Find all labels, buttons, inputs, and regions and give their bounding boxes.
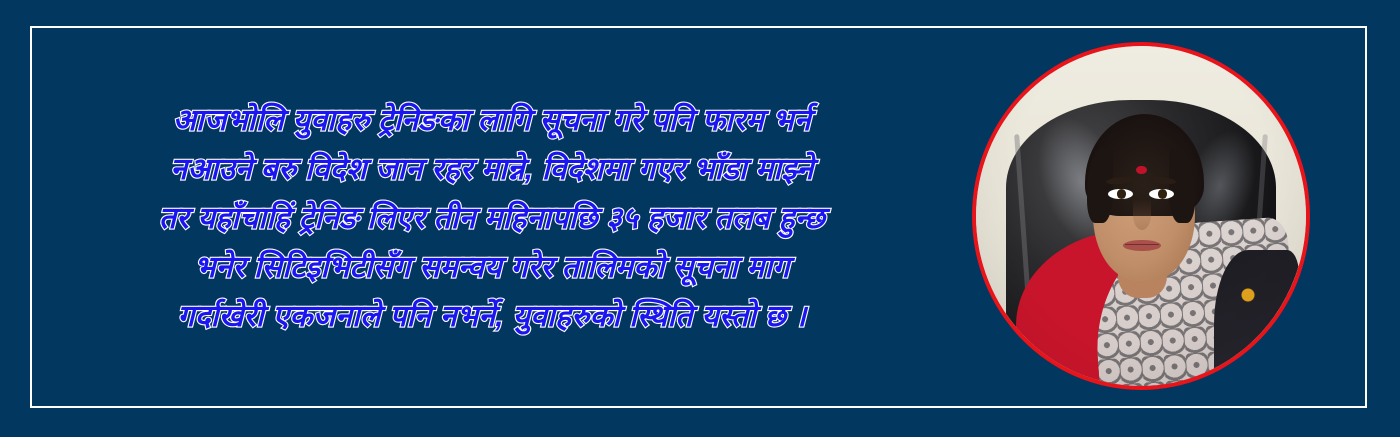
portrait-photo — [976, 46, 1306, 386]
bindi — [1136, 166, 1147, 174]
portrait-circle — [972, 42, 1310, 390]
quote-line-4: भनेर सिटिइभिटीसँग समन्वय गरेर तालिमको सू… — [42, 243, 942, 292]
quote-card: आजभोलि युवाहरु ट्रेनिङका लागि सूचना गरे … — [0, 0, 1400, 437]
pupil-left — [1117, 189, 1126, 198]
quote-line-1: आजभोलि युवाहरु ट्रेनिङका लागि सूचना गरे … — [42, 96, 942, 145]
sari-floral-border — [1214, 250, 1300, 386]
nose — [1133, 199, 1151, 230]
quote-line-5: गर्दाखेरी एकजनाले पनि नभर्ने, युवाहरुको … — [42, 292, 942, 341]
quote-text-block: आजभोलि युवाहरु ट्रेनिङका लागि सूचना गरे … — [42, 96, 942, 341]
lips — [1123, 240, 1161, 251]
quote-line-3: तर यहाँचाहिं ट्रेनिङ लिएर तीन महिनापछि ३… — [42, 194, 942, 243]
pupil-right — [1158, 189, 1167, 198]
quote-line-2: नआउने बरु विदेश जान रहर मान्ने, विदेशमा … — [42, 145, 942, 194]
eye-left — [1108, 189, 1133, 200]
